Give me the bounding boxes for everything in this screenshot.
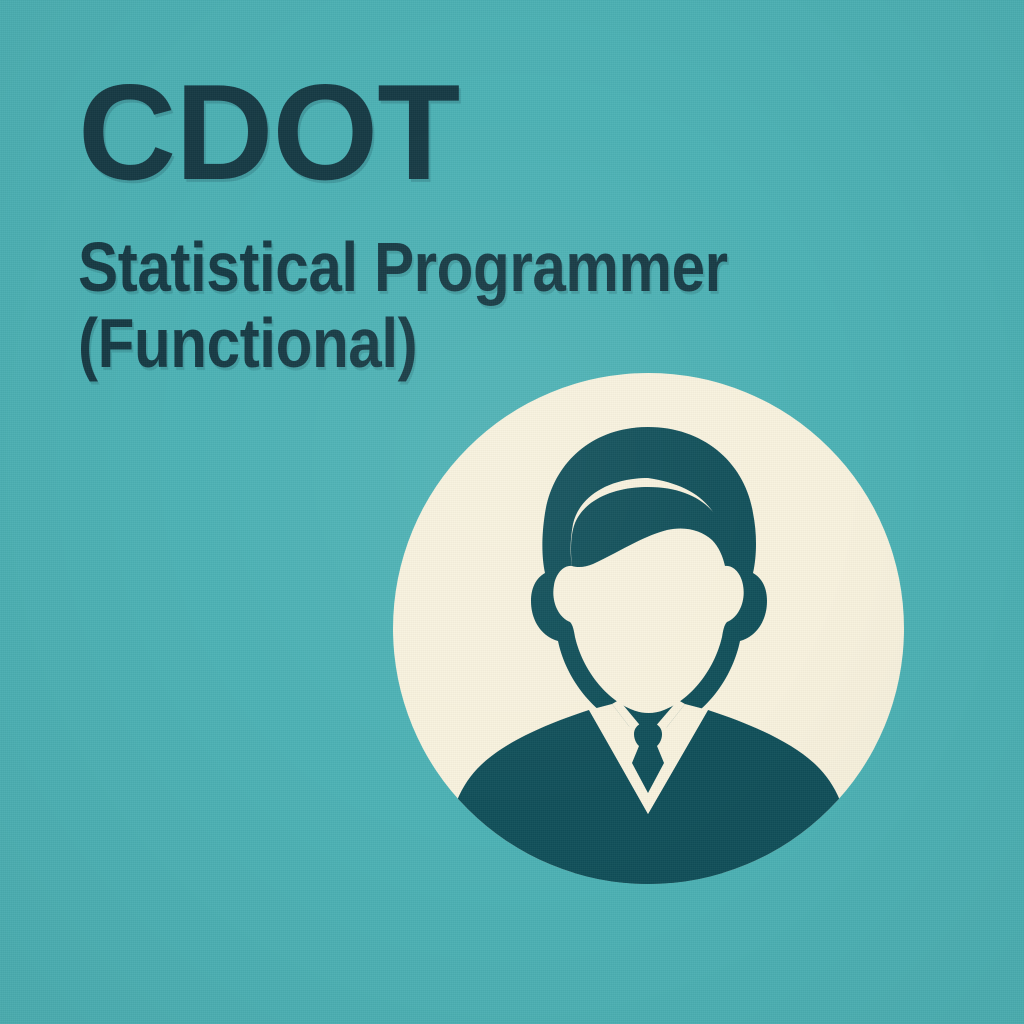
avatar — [393, 373, 904, 884]
role-title: Statistical Programmer (Functional) — [78, 187, 728, 382]
title-block: CDOT Statistical Programmer (Functional) — [78, 78, 833, 381]
role-title-line-2: (Functional) — [78, 305, 728, 381]
role-title-line-1: Statistical Programmer — [78, 229, 728, 305]
poster-canvas: CDOT Statistical Programmer (Functional) — [0, 0, 1024, 1024]
organization-title: CDOT — [78, 78, 833, 187]
